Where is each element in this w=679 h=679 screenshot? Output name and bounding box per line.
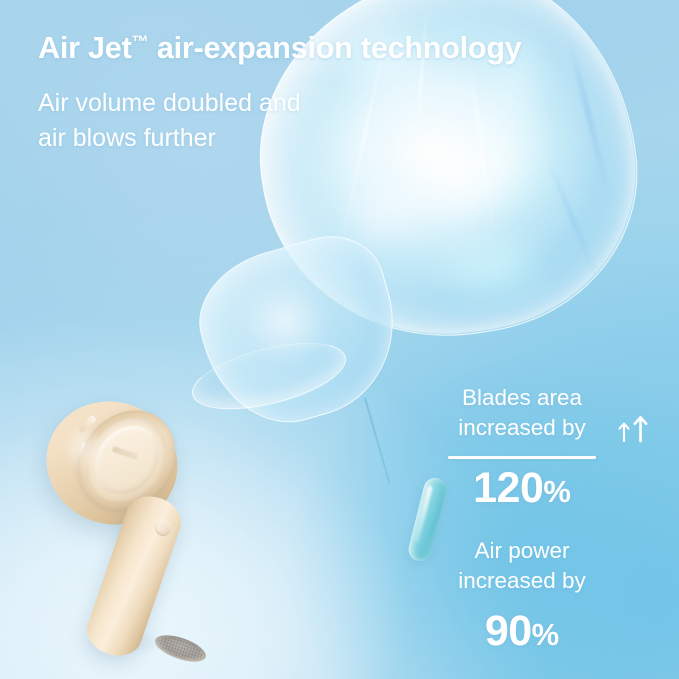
stat-blades-area-value: 120%: [404, 464, 640, 512]
subheadline-line-1: Air volume doubled and: [38, 86, 301, 121]
stat-blades-area-label-line-1: Blades area: [404, 383, 640, 413]
product-feature-banner: Air Jet™ air-expansion technology Air vo…: [0, 0, 679, 679]
stat-divider: [448, 456, 596, 459]
stat-blades-area-unit: %: [543, 474, 571, 509]
page-title: Air Jet™ air-expansion technology: [38, 31, 522, 66]
stat-air-power-unit: %: [532, 617, 560, 652]
subheadline-line-2: air blows further: [38, 121, 301, 156]
headline-text-after-tm: air-expansion technology: [149, 31, 522, 65]
stat-air-power-number: 90: [485, 607, 532, 655]
double-up-arrow-icon: [613, 414, 657, 444]
headline-text-before-tm: Air Jet: [38, 31, 132, 65]
stat-blades-area-label: Blades area increased by: [404, 383, 640, 443]
stat-air-power: Air power increased by 90%: [404, 536, 640, 655]
subheadline: Air volume doubled and air blows further: [38, 86, 301, 156]
statistics-block: Blades area increased by: [404, 383, 640, 655]
trademark-symbol: ™: [132, 32, 149, 51]
stat-air-power-label-line-1: Air power: [404, 536, 640, 566]
stat-air-power-label: Air power increased by: [404, 536, 640, 596]
stat-blades-area-number: 120: [473, 464, 543, 512]
handheld-fan-product-image: [44, 398, 234, 666]
stat-blades-area: Blades area increased by: [404, 383, 640, 512]
stat-air-power-label-line-2: increased by: [404, 566, 640, 596]
stat-blades-area-label-line-2: increased by: [404, 413, 640, 443]
stat-air-power-value: 90%: [404, 607, 640, 655]
